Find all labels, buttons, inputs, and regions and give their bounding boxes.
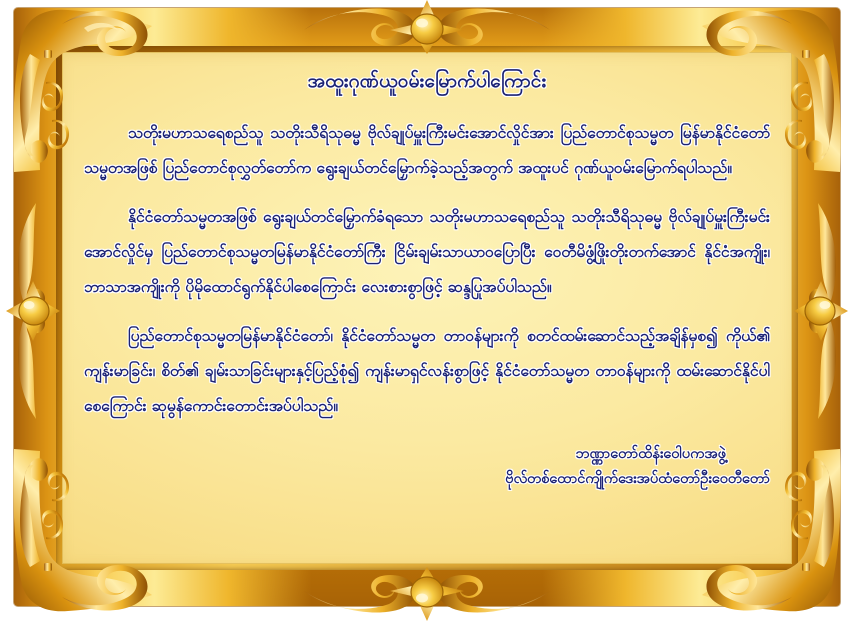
page-title: အထူးဂုဏ်ယူဝမ်းမြောက်ပါကြောင်း	[84, 68, 770, 94]
body-paragraph-1: သတိုးမဟာသရေစည်သူ သတိုးသီရိသုဓမ္မ ဗိုလ်ချ…	[84, 116, 770, 186]
signature-organization: ဘဏ္ဏာတော်ထိန်းဝေါပကအဖွဲ့	[84, 442, 770, 467]
body-paragraph-2: နိုင်ငံတော်သမ္မတအဖြစ် ရွေးချယ်တင်မြှောက်…	[84, 200, 770, 305]
signature-block: ဘဏ္ဏာတော်ထိန်းဝေါပကအဖွဲ့ ဗိုလ်တစ်ထောင်ကျ…	[84, 442, 770, 492]
body-paragraph-3: ပြည်တောင်စုသမ္မတမြန်မာနိုင်ငံတော်၊ နိုင်…	[84, 319, 770, 424]
certificate-text-body: အထူးဂုဏ်ယူဝမ်းမြောက်ပါကြောင်း သတိုးမဟာသရ…	[62, 52, 792, 564]
signature-name: ဗိုလ်တစ်ထောင်ကျိုက်ဒေးအပ်ထံတော်ဦးဝေတီတော…	[84, 467, 770, 492]
certificate-document: အထူးဂုဏ်ယူဝမ်းမြောက်ပါကြောင်း သတိုးမဟာသရ…	[0, 0, 854, 621]
